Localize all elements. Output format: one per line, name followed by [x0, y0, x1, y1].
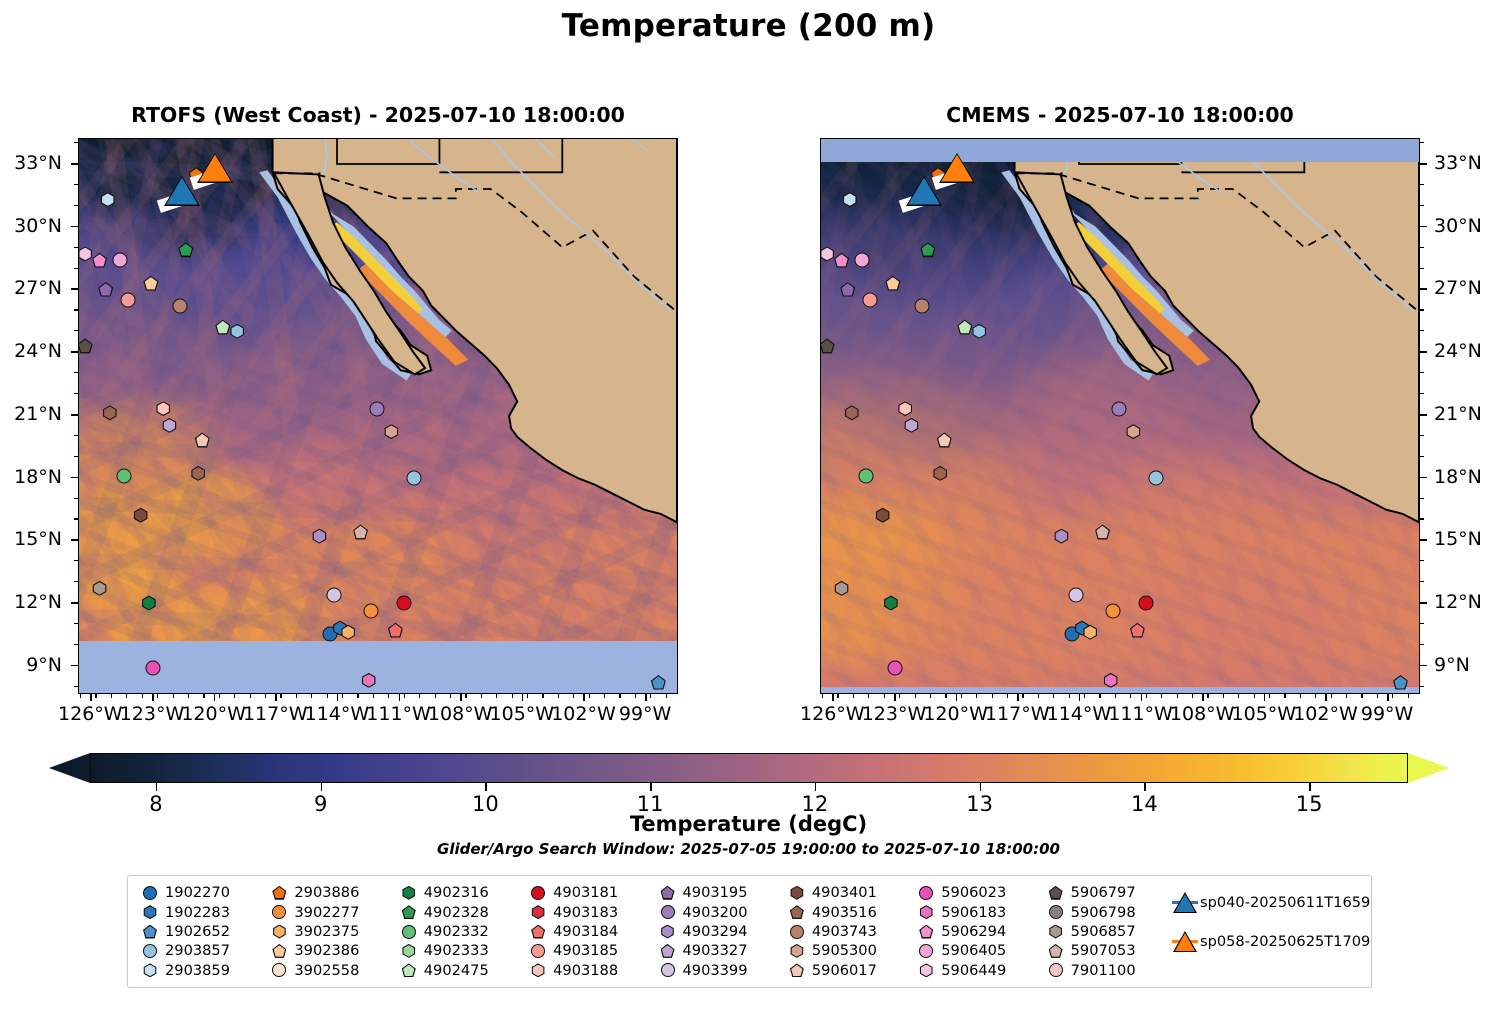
- legend-item[interactable]: 5906183: [913, 902, 1042, 921]
- x-tick: [956, 694, 958, 701]
- argo-float-marker[interactable]: [141, 596, 156, 611]
- argo-float-marker[interactable]: [92, 253, 107, 268]
- argo-float-marker[interactable]: [957, 320, 972, 335]
- argo-float-marker[interactable]: [844, 405, 859, 420]
- x-minor-tick: [1238, 694, 1239, 698]
- legend-item[interactable]: 1902283: [137, 902, 266, 921]
- x-minor-tick: [1099, 694, 1100, 698]
- argo-float-marker[interactable]: [834, 581, 849, 596]
- y-minor-tick: [1420, 351, 1424, 352]
- argo-float-marker[interactable]: [1103, 673, 1118, 688]
- platform-symbol: [402, 886, 416, 900]
- legend-item[interactable]: 1902652: [137, 922, 266, 941]
- colorbar-tick: [485, 783, 487, 791]
- argo-float-marker[interactable]: [172, 299, 187, 314]
- legend-item[interactable]: 5906017: [784, 961, 913, 980]
- argo-float-marker[interactable]: [885, 276, 900, 291]
- legend-item[interactable]: 4903327: [655, 941, 784, 960]
- argo-float-marker[interactable]: [353, 524, 368, 539]
- argo-float-marker[interactable]: [98, 282, 113, 297]
- y-tick-label: 12°N: [14, 591, 62, 613]
- x-minor-tick: [1331, 694, 1332, 698]
- y-tick-label: 21°N: [14, 403, 62, 425]
- x-tick-label: 126°W: [58, 703, 123, 725]
- y-minor-tick: [1420, 644, 1424, 645]
- y-minor-tick: [74, 644, 78, 645]
- legend-label: 4903184: [551, 923, 618, 940]
- legend-item[interactable]: 3902277: [266, 902, 395, 921]
- x-minor-tick: [311, 694, 312, 698]
- argo-float-marker[interactable]: [117, 468, 132, 483]
- y-minor-tick: [74, 268, 78, 269]
- argo-float-marker[interactable]: [855, 253, 870, 268]
- legend-item[interactable]: 4903401: [784, 883, 913, 902]
- argo-float-marker[interactable]: [1105, 604, 1120, 619]
- x-minor-tick: [435, 694, 436, 698]
- legend-marker: [1172, 922, 1198, 961]
- argo-float-marker[interactable]: [863, 292, 878, 307]
- colorbar-tick: [650, 783, 652, 791]
- x-minor-tick: [619, 694, 620, 698]
- argo-float-marker[interactable]: [842, 192, 857, 207]
- legend-item[interactable]: 5906857: [1043, 922, 1172, 941]
- legend-item[interactable]: 5906798: [1043, 902, 1172, 921]
- legend-label: 4903401: [810, 884, 877, 901]
- x-minor-tick: [822, 694, 823, 698]
- y-tick-label: 27°N: [1434, 277, 1482, 299]
- argo-float-marker[interactable]: [883, 596, 898, 611]
- x-tick-label: 111°W: [1108, 703, 1173, 725]
- glider-marker[interactable]: [199, 155, 231, 182]
- y-minor-tick: [1420, 184, 1424, 185]
- legend-label: 4902333: [422, 942, 489, 959]
- legend-item[interactable]: 4903294: [655, 922, 784, 941]
- y-tick-label: 15°N: [1434, 528, 1482, 550]
- x-minor-tick: [1115, 694, 1116, 698]
- legend-column: 29038863902277390237539023863902558: [266, 883, 395, 980]
- x-tick-label: 99°W: [619, 703, 671, 725]
- legend-label: 1902652: [163, 923, 230, 940]
- argo-float-marker[interactable]: [121, 292, 136, 307]
- legend-item[interactable]: 3902375: [266, 922, 395, 941]
- legend-item[interactable]: 4903184: [525, 922, 654, 941]
- no-data-band-north: [821, 139, 1419, 162]
- y-minor-tick: [1420, 309, 1424, 310]
- argo-float-marker[interactable]: [898, 401, 913, 416]
- x-tick-label: 120°W: [923, 703, 988, 725]
- legend-item[interactable]: 3902386: [266, 941, 395, 960]
- platform-symbol: [531, 944, 545, 958]
- y-minor-tick: [1420, 623, 1424, 624]
- y-minor-tick: [74, 414, 78, 415]
- map-canvas-cmems[interactable]: [820, 138, 1420, 694]
- x-tick-label: 126°W: [800, 703, 865, 725]
- x-minor-tick: [961, 694, 962, 698]
- x-minor-tick: [357, 694, 358, 698]
- legend-item[interactable]: 2903859: [137, 961, 266, 980]
- x-minor-tick: [1254, 694, 1255, 698]
- platform-symbol: [272, 944, 286, 958]
- legend-item[interactable]: 2903857: [137, 941, 266, 960]
- x-minor-tick: [837, 694, 838, 698]
- x-tick-label: 108°W: [428, 703, 493, 725]
- legend-marker: [655, 942, 681, 960]
- platform-symbol: [272, 925, 286, 939]
- y-minor-tick: [1420, 560, 1424, 561]
- platform-symbol: [1049, 925, 1063, 939]
- argo-float-marker[interactable]: [933, 466, 948, 481]
- y-minor-tick: [1420, 288, 1424, 289]
- argo-float-marker[interactable]: [1130, 623, 1145, 638]
- legend-marker: [266, 961, 292, 979]
- x-minor-tick: [111, 694, 112, 698]
- map-panel-rtofs: RTOFS (West Coast) - 2025-07-10 18:00:00…: [78, 138, 678, 694]
- y-minor-tick: [74, 456, 78, 457]
- legend-marker: [1043, 884, 1069, 902]
- legend-marker: [784, 903, 810, 921]
- no-data-band-south: [79, 641, 677, 694]
- platform-symbol: [272, 886, 286, 900]
- legend-label: 2903886: [292, 884, 359, 901]
- legend-marker: [655, 923, 681, 941]
- panel-title-cmems: CMEMS - 2025-07-10 18:00:00: [820, 103, 1420, 127]
- legend-marker: [913, 961, 939, 979]
- x-minor-tick: [388, 694, 389, 698]
- x-minor-tick: [573, 694, 574, 698]
- platform-symbol: [790, 963, 804, 977]
- argo-float-marker[interactable]: [1054, 529, 1069, 544]
- legend-item[interactable]: 4903200: [655, 902, 784, 921]
- x-minor-tick: [1192, 694, 1193, 698]
- landmass-mexico: [273, 139, 677, 522]
- argo-float-marker[interactable]: [875, 508, 890, 523]
- legend-item[interactable]: sp040-20250611T1659: [1172, 883, 1362, 922]
- x-tick: [399, 694, 401, 701]
- platform-symbol: [661, 944, 675, 958]
- platform-symbol: [143, 925, 157, 939]
- argo-float-marker[interactable]: [937, 432, 952, 447]
- y-tick-label: 15°N: [14, 528, 62, 550]
- argo-float-marker[interactable]: [840, 282, 855, 297]
- y-minor-tick: [1420, 686, 1424, 687]
- legend-item[interactable]: 5906405: [913, 941, 1042, 960]
- argo-float-marker[interactable]: [396, 596, 411, 611]
- legend-marker: [784, 942, 810, 960]
- argo-float-marker[interactable]: [914, 299, 929, 314]
- legend-label: 3902558: [292, 962, 359, 979]
- x-minor-tick: [1022, 694, 1023, 698]
- argo-float-marker[interactable]: [388, 623, 403, 638]
- y-minor-tick: [1420, 498, 1424, 499]
- argo-float-marker[interactable]: [820, 246, 835, 261]
- y-minor-tick: [74, 309, 78, 310]
- colorbar-tick: [815, 783, 817, 791]
- legend-item[interactable]: 5907053: [1043, 941, 1172, 960]
- platform-symbol: [143, 905, 157, 919]
- legend-item[interactable]: 4903516: [784, 902, 913, 921]
- legend-label: 4902316: [422, 884, 489, 901]
- argo-float-marker[interactable]: [102, 405, 117, 420]
- legend-item[interactable]: 4902333: [396, 941, 525, 960]
- legend-label: 5906294: [939, 923, 1006, 940]
- legend-marker: [655, 903, 681, 921]
- y-tick-label: 12°N: [1434, 591, 1482, 613]
- argo-float-marker[interactable]: [1126, 424, 1141, 439]
- argo-float-marker[interactable]: [920, 242, 935, 257]
- legend-marker: [1043, 942, 1069, 960]
- platform-symbol: [790, 925, 804, 939]
- legend-item[interactable]: 5906023: [913, 883, 1042, 902]
- y-minor-tick: [74, 372, 78, 373]
- x-tick: [1141, 694, 1143, 701]
- x-minor-tick: [404, 694, 405, 698]
- legend-item[interactable]: 4903185: [525, 941, 654, 960]
- x-tick: [460, 694, 462, 701]
- x-minor-tick: [296, 694, 297, 698]
- x-tick-label: 114°W: [305, 703, 370, 725]
- glider-triangle-icon: [1175, 933, 1195, 951]
- y-minor-tick: [1420, 372, 1424, 373]
- x-minor-tick: [853, 694, 854, 698]
- map-canvas-rtofs[interactable]: [78, 138, 678, 694]
- y-minor-tick: [1420, 602, 1424, 603]
- x-minor-tick: [280, 694, 281, 698]
- y-minor-tick: [1420, 435, 1424, 436]
- argo-float-marker[interactable]: [326, 587, 341, 602]
- x-tick: [337, 694, 339, 701]
- x-minor-tick: [1346, 694, 1347, 698]
- x-minor-tick: [419, 694, 420, 698]
- legend-label: 5907053: [1069, 942, 1136, 959]
- y-tick-label: 9°N: [1434, 654, 1470, 676]
- x-minor-tick: [250, 694, 251, 698]
- y-minor-tick: [74, 393, 78, 394]
- y-minor-tick: [1420, 581, 1424, 582]
- x-minor-tick: [481, 694, 482, 698]
- argo-float-marker[interactable]: [834, 253, 849, 268]
- x-tick-label: 105°W: [490, 703, 555, 725]
- legend-item[interactable]: 4903188: [525, 961, 654, 980]
- legend-label: 1902270: [163, 884, 230, 901]
- argo-float-marker[interactable]: [341, 625, 356, 640]
- argo-float-marker[interactable]: [972, 324, 987, 339]
- legend-label: sp040-20250611T1659: [1198, 894, 1370, 911]
- legend-label: 4903188: [551, 962, 618, 979]
- legend-item[interactable]: 5906449: [913, 961, 1042, 980]
- legend-item[interactable]: 5905300: [784, 941, 913, 960]
- argo-float-marker[interactable]: [1068, 587, 1083, 602]
- platform-symbol: [661, 925, 675, 939]
- legend-marker: [525, 884, 551, 902]
- x-tick-label: 105°W: [1232, 703, 1297, 725]
- argo-float-marker[interactable]: [191, 466, 206, 481]
- argo-float-marker[interactable]: [1148, 470, 1163, 485]
- argo-float-marker[interactable]: [178, 242, 193, 257]
- legend-marker: [266, 923, 292, 941]
- x-tick-label: 102°W: [1293, 703, 1358, 725]
- argo-float-marker[interactable]: [820, 338, 835, 353]
- x-tick-label: 108°W: [1170, 703, 1235, 725]
- argo-float-marker[interactable]: [859, 468, 874, 483]
- x-minor-tick: [1069, 694, 1070, 698]
- legend-marker: [396, 942, 422, 960]
- argo-float-marker[interactable]: [1083, 625, 1098, 640]
- argo-float-marker[interactable]: [1111, 401, 1126, 416]
- legend-item[interactable]: 5906797: [1043, 883, 1172, 902]
- legend-item[interactable]: 5906294: [913, 922, 1042, 941]
- legend-marker: [137, 942, 163, 960]
- colorbar-tick: [156, 783, 158, 791]
- legend-marker: [784, 923, 810, 941]
- y-minor-tick: [74, 163, 78, 164]
- legend-column: 59067975906798590685759070537901100: [1043, 883, 1172, 980]
- legend-item[interactable]: sp058-20250625T1709: [1172, 922, 1362, 961]
- legend-label: 4902475: [422, 962, 489, 979]
- legend-item[interactable]: 7901100: [1043, 961, 1172, 980]
- legend-marker: [525, 961, 551, 979]
- x-minor-tick: [1377, 694, 1378, 698]
- x-tick-label: 111°W: [366, 703, 431, 725]
- argo-float-marker[interactable]: [1138, 596, 1153, 611]
- argo-float-marker[interactable]: [215, 320, 230, 335]
- argo-float-marker[interactable]: [384, 424, 399, 439]
- x-minor-tick: [373, 694, 374, 698]
- argo-float-marker[interactable]: [113, 253, 128, 268]
- legend-item[interactable]: 4902475: [396, 961, 525, 980]
- legend-label: 4903195: [681, 884, 748, 901]
- legend-item[interactable]: 4903399: [655, 961, 784, 980]
- x-minor-tick: [527, 694, 528, 698]
- y-tick-label: 30°N: [14, 215, 62, 237]
- x-minor-tick: [1408, 694, 1409, 698]
- legend-label: 5906797: [1069, 884, 1136, 901]
- x-minor-tick: [1361, 694, 1362, 698]
- glider-marker[interactable]: [941, 155, 973, 182]
- legend-item[interactable]: 4903183: [525, 902, 654, 921]
- argo-float-marker[interactable]: [133, 508, 148, 523]
- colorbar-tick: [1144, 783, 1146, 791]
- argo-float-marker[interactable]: [145, 660, 160, 675]
- argo-float-marker[interactable]: [1095, 524, 1110, 539]
- legend-label: 5906405: [939, 942, 1006, 959]
- colorbar-gradient: [90, 753, 1408, 783]
- argo-float-marker[interactable]: [1393, 675, 1408, 690]
- legend-item[interactable]: 4902332: [396, 922, 525, 941]
- x-minor-tick: [1146, 694, 1147, 698]
- legend-label: 4903185: [551, 942, 618, 959]
- legend-label: 5906023: [939, 884, 1006, 901]
- argo-float-marker[interactable]: [143, 276, 158, 291]
- legend-marker: [784, 884, 810, 902]
- x-minor-tick: [1038, 694, 1039, 698]
- y-minor-tick: [1420, 247, 1424, 248]
- legend-label: 3902277: [292, 904, 359, 921]
- legend-item[interactable]: 4902328: [396, 902, 525, 921]
- legend-item[interactable]: 3902558: [266, 961, 395, 980]
- legend-marker: [396, 923, 422, 941]
- platform-symbol: [402, 925, 416, 939]
- legend-label: 4902332: [422, 923, 489, 940]
- argo-float-marker[interactable]: [406, 470, 421, 485]
- legend-label: 2903859: [163, 962, 230, 979]
- x-tick-label: 117°W: [985, 703, 1050, 725]
- x-minor-tick: [542, 694, 543, 698]
- argo-float-marker[interactable]: [230, 324, 245, 339]
- legend-label: 4903327: [681, 942, 748, 959]
- legend-marker: [1043, 961, 1069, 979]
- legend-item[interactable]: 4903181: [525, 883, 654, 902]
- x-minor-tick: [327, 694, 328, 698]
- argo-float-marker[interactable]: [195, 432, 210, 447]
- argo-float-marker[interactable]: [312, 529, 327, 544]
- argo-float-marker[interactable]: [361, 673, 376, 688]
- x-minor-tick: [95, 694, 96, 698]
- legend-marker: [266, 903, 292, 921]
- x-minor-tick: [1223, 694, 1224, 698]
- legend-item[interactable]: 4903743: [784, 922, 913, 941]
- y-minor-tick: [74, 581, 78, 582]
- legend-column: 49023164902328490233249023334902475: [396, 883, 525, 980]
- argo-float-marker[interactable]: [162, 418, 177, 433]
- x-minor-tick: [1130, 694, 1131, 698]
- platform-legend: 1902270190228319026522903857290385929038…: [127, 875, 1372, 988]
- legend-item[interactable]: 1902270: [137, 883, 266, 902]
- legend-marker: [1043, 923, 1069, 941]
- argo-float-marker[interactable]: [887, 660, 902, 675]
- legend-marker: [396, 884, 422, 902]
- platform-symbol: [272, 963, 286, 977]
- x-minor-tick: [1053, 694, 1054, 698]
- legend-item[interactable]: 2903886: [266, 883, 395, 902]
- argo-float-marker[interactable]: [92, 581, 107, 596]
- platform-symbol: [790, 905, 804, 919]
- legend-item[interactable]: 4903195: [655, 883, 784, 902]
- y-minor-tick: [74, 226, 78, 227]
- y-minor-tick: [1420, 142, 1424, 143]
- x-minor-tick: [1177, 694, 1178, 698]
- argo-float-marker[interactable]: [100, 192, 115, 207]
- legend-label: 4903743: [810, 923, 877, 940]
- argo-float-marker[interactable]: [363, 604, 378, 619]
- platform-symbol: [143, 886, 157, 900]
- x-tick: [645, 694, 647, 701]
- y-minor-tick: [74, 602, 78, 603]
- legend-column: 59060235906183590629459064055906449: [913, 883, 1042, 980]
- argo-float-marker[interactable]: [369, 401, 384, 416]
- argo-float-marker[interactable]: [78, 246, 93, 261]
- x-minor-tick: [465, 694, 466, 698]
- argo-float-marker[interactable]: [904, 418, 919, 433]
- y-minor-tick: [74, 351, 78, 352]
- x-tick: [1264, 694, 1266, 701]
- argo-float-marker[interactable]: [651, 675, 666, 690]
- legend-marker: [525, 942, 551, 960]
- platform-symbol: [919, 925, 933, 939]
- y-minor-tick: [74, 330, 78, 331]
- argo-float-marker[interactable]: [156, 401, 171, 416]
- x-minor-tick: [992, 694, 993, 698]
- legend-item[interactable]: 4902316: [396, 883, 525, 902]
- x-minor-tick: [945, 694, 946, 698]
- x-minor-tick: [142, 694, 143, 698]
- platform-symbol: [790, 944, 804, 958]
- y-tick-label: 18°N: [14, 466, 62, 488]
- x-minor-tick: [930, 694, 931, 698]
- x-minor-tick: [915, 694, 916, 698]
- platform-symbol: [661, 963, 675, 977]
- y-tick-label: 21°N: [1434, 403, 1482, 425]
- argo-float-marker[interactable]: [78, 338, 93, 353]
